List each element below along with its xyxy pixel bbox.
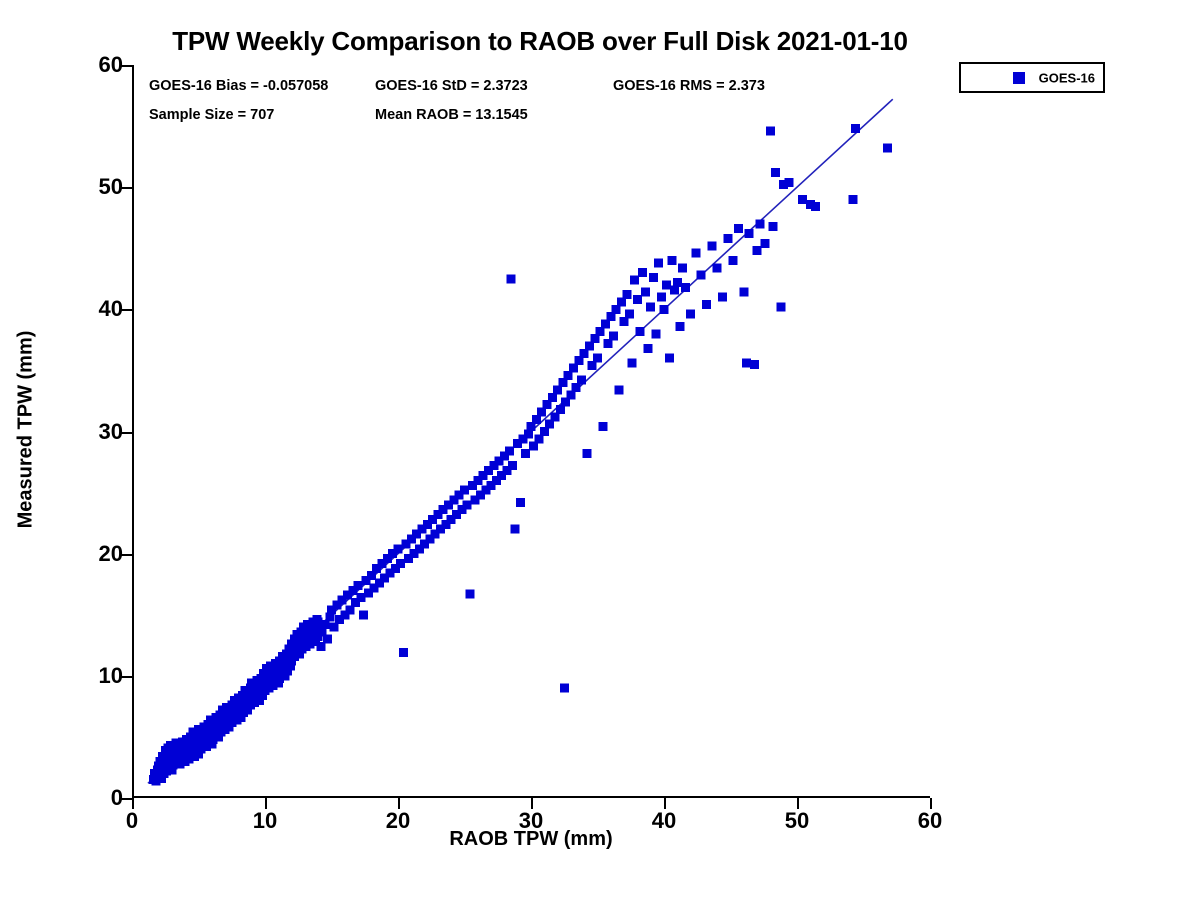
scatter-point [354,581,363,590]
scatter-point [593,354,602,363]
scatter-point [848,195,857,204]
scatter-point [718,293,727,302]
scatter-point [646,302,655,311]
scatter-point [811,202,820,211]
scatter-point [697,271,706,280]
scatter-point [686,310,695,319]
scatter-point [622,290,631,299]
scatter-point [359,610,368,619]
scatter-point [577,376,586,385]
legend-label-goes-16: GOES-16 [1039,70,1095,85]
scatter-point [723,234,732,243]
scatter-point [766,126,775,135]
scatter-point [394,544,403,553]
scatter-point [713,263,722,272]
scatter-point [560,684,569,693]
scatter-point [614,385,623,394]
scatter-point [702,300,711,309]
legend: GOES-16 [959,62,1105,93]
scatter-point [396,559,405,568]
scatter-point [609,332,618,341]
scatter-point [691,249,700,258]
scatter-point [660,305,669,314]
scatter-point [516,498,525,507]
scatter-point [636,327,645,336]
scatter-point [734,224,743,233]
scatter-point [665,354,674,363]
x-axis-label: RAOB TPW (mm) [132,828,930,851]
scatter-point [654,258,663,267]
scatter-point [673,278,682,287]
scatter-point [667,256,676,265]
scatter-point [507,274,516,283]
scatter-series-goes-16 [149,124,892,785]
y-tick-label: 0 [111,785,123,811]
scatter-point [771,168,780,177]
scatter-point [508,461,517,470]
scatter-point [649,273,658,282]
scatter-point [521,449,530,458]
scatter-point [465,589,474,598]
scatter-point [356,593,365,602]
scatter-point [323,635,332,644]
scatter-point [511,525,520,534]
scatter-point [582,449,591,458]
y-tick-label: 20 [99,541,123,567]
chart-figure: TPW Weekly Comparison to RAOB over Full … [0,0,1200,900]
scatter-point [678,263,687,272]
scatter-point [729,256,738,265]
scatter-point [652,329,661,338]
scatter-point [742,359,751,368]
scatter-point [745,229,754,238]
scatter-point [638,268,647,277]
scatter-point [851,124,860,133]
y-tick-label: 60 [99,52,123,78]
scatter-point [644,344,653,353]
scatter-point [739,288,748,297]
scatter-canvas [132,65,930,798]
scatter-point [785,178,794,187]
scatter-point [641,288,650,297]
scatter-point [463,500,472,509]
scatter-point [628,359,637,368]
scatter-point [761,239,770,248]
scatter-point [675,322,684,331]
scatter-point [505,447,514,456]
scatter-point [633,295,642,304]
scatter-point [753,246,762,255]
scatter-point [750,360,759,369]
scatter-point [598,422,607,431]
scatter-point [657,293,666,302]
page-title: TPW Weekly Comparison to RAOB over Full … [0,26,1080,57]
y-axis-label: Measured TPW (mm) [15,279,38,579]
scatter-point [883,144,892,153]
scatter-point [755,219,764,228]
plot-area: 0102030405060 0102030405060 Measured TPW… [132,65,930,798]
scatter-point [769,222,778,231]
scatter-point [630,276,639,285]
y-tick-label: 40 [99,296,123,322]
scatter-point [399,648,408,657]
scatter-point [777,302,786,311]
scatter-point [460,486,469,495]
y-tick-label: 30 [99,419,123,445]
scatter-point [798,195,807,204]
y-tick-label: 10 [99,663,123,689]
scatter-point [625,310,634,319]
scatter-point [681,283,690,292]
y-tick-label: 50 [99,174,123,200]
scatter-point [662,280,671,289]
legend-marker-goes-16 [1013,72,1025,84]
scatter-point [707,241,716,250]
